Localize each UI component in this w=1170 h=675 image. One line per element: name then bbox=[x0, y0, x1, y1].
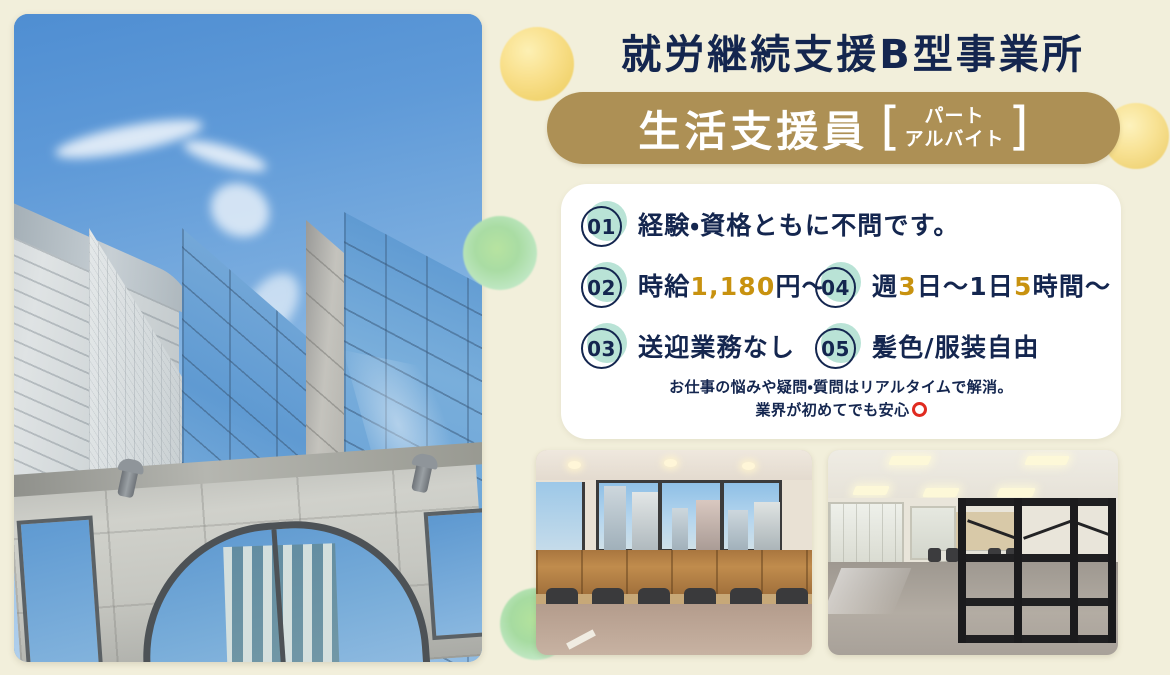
employment-type-part: パート bbox=[924, 106, 984, 127]
employment-type-stack: パート アルバイト bbox=[905, 106, 1005, 150]
carpet-floor bbox=[536, 604, 812, 655]
bracket-open: [ bbox=[880, 101, 900, 153]
shelf-board bbox=[958, 498, 1116, 506]
feature-number-badge: 03 bbox=[581, 323, 627, 369]
employment-type-group: [ パート アルバイト ] bbox=[880, 104, 1028, 153]
feature-text: 送迎業務なし bbox=[638, 328, 795, 364]
shelf-brace bbox=[967, 519, 1017, 540]
ceiling-light-icon bbox=[742, 462, 755, 470]
side-window bbox=[17, 516, 104, 662]
feature-item-03: 03 送迎業務なし bbox=[581, 323, 795, 369]
shift-prefix: 週 bbox=[872, 272, 898, 301]
shelf-post bbox=[958, 498, 966, 643]
feature-number: 05 bbox=[815, 328, 856, 369]
role-title: 生活支援員 bbox=[638, 98, 868, 159]
support-note-line1: お仕事の悩みや疑問・質問はリアルタイムで解消。 bbox=[561, 376, 1121, 399]
facility-type-heading: 就労継続支援B型事業所 bbox=[553, 22, 1153, 80]
feature-item-01: 01 経験・資格ともに不問です。 bbox=[581, 201, 960, 247]
side-window bbox=[536, 482, 585, 552]
city-building bbox=[754, 502, 780, 552]
fluorescent-light-icon bbox=[922, 488, 960, 497]
fluorescent-light-icon bbox=[996, 488, 1036, 497]
wage-amount: 1,180 bbox=[690, 272, 775, 301]
wage-prefix: 時給 bbox=[638, 272, 690, 301]
ceiling-light-icon bbox=[664, 459, 677, 467]
shelf-board bbox=[958, 635, 1116, 643]
feature-number-badge: 02 bbox=[581, 262, 627, 308]
feature-number-badge: 01 bbox=[581, 201, 627, 247]
shelf-brace bbox=[1023, 519, 1073, 540]
fluorescent-light-icon bbox=[888, 456, 932, 465]
building-exterior-photo bbox=[14, 14, 482, 662]
feature-number: 02 bbox=[581, 267, 622, 308]
support-note-line2: 業界が初めてでも安心 bbox=[561, 399, 1121, 422]
window-mullion bbox=[720, 480, 724, 552]
feature-number: 01 bbox=[581, 206, 622, 247]
shelf-post bbox=[1108, 498, 1116, 643]
right-window bbox=[424, 508, 482, 640]
city-building bbox=[604, 486, 626, 552]
support-note: お仕事の悩みや疑問・質問はリアルタイムで解消。 業界が初めてでも安心 bbox=[561, 376, 1121, 423]
shelf-board bbox=[958, 598, 1116, 606]
feature-card: 01 経験・資格ともに不問です。 02 時給1,180円～ 03 送迎業務なし bbox=[561, 184, 1121, 439]
ceiling-light-icon bbox=[568, 461, 581, 469]
feature-number-badge: 05 bbox=[815, 323, 861, 369]
feature-number: 04 bbox=[815, 267, 856, 308]
shelf-post bbox=[1070, 498, 1078, 643]
employment-type-arbeit: アルバイト bbox=[905, 129, 1005, 150]
bracket-close: ] bbox=[1008, 101, 1028, 153]
shift-days: 3 bbox=[898, 272, 917, 301]
support-note-line2-text: 業界が初めてでも安心 bbox=[755, 401, 909, 419]
feature-text: 髪色/服装自由 bbox=[872, 328, 1040, 364]
feature-item-04: 04 週3日～1日5時間～ bbox=[815, 262, 1111, 308]
blinded-window bbox=[828, 502, 904, 564]
role-badge: 生活支援員 [ パート アルバイト ] bbox=[547, 92, 1120, 164]
fluorescent-light-icon bbox=[852, 486, 890, 495]
red-circle-icon bbox=[912, 402, 927, 417]
window-mullion bbox=[658, 480, 662, 552]
black-metal-shelving bbox=[958, 498, 1116, 643]
feature-item-05: 05 髪色/服装自由 bbox=[815, 323, 1040, 369]
feature-number-badge: 04 bbox=[815, 262, 861, 308]
shift-suffix: 時間～ bbox=[1033, 272, 1112, 301]
shelf-post bbox=[1014, 498, 1022, 643]
feature-number: 03 bbox=[581, 328, 622, 369]
feature-item-02: 02 時給1,180円～ bbox=[581, 262, 828, 308]
storage-room-photo bbox=[828, 450, 1118, 655]
feature-text: 時給1,180円～ bbox=[638, 267, 828, 303]
meeting-chair bbox=[928, 548, 941, 562]
city-building bbox=[696, 500, 720, 552]
banner-root: 就労継続支援B型事業所 生活支援員 [ パート アルバイト ] 01 経験・資格… bbox=[0, 0, 1170, 675]
feature-text: 経験・資格ともに不問です。 bbox=[638, 206, 960, 242]
office-interior-photo bbox=[536, 450, 812, 655]
city-building bbox=[728, 510, 748, 552]
feature-text: 週3日～1日5時間～ bbox=[872, 267, 1111, 303]
city-building bbox=[672, 508, 688, 552]
shelf-board bbox=[958, 554, 1116, 562]
fluorescent-light-icon bbox=[1024, 456, 1070, 465]
shift-hours: 5 bbox=[1014, 272, 1033, 301]
shift-middle: 日～1日 bbox=[917, 272, 1014, 301]
